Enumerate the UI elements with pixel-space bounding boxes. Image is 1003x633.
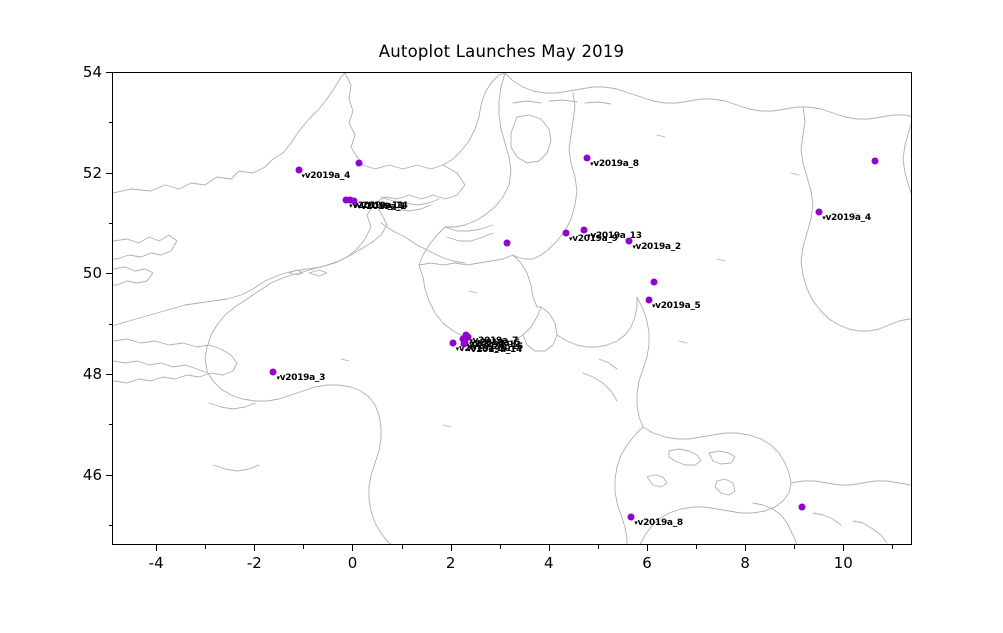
y-tick-label: 50 [83, 264, 102, 282]
data-point [356, 159, 363, 166]
map-axes: ▾v2019a_4▾v2019a_11▾v2019a_14▾v2019a_1▾v… [112, 72, 912, 545]
y-tick-minor [109, 223, 113, 224]
figure: Autoplot Launches May 2019 [0, 0, 1003, 633]
data-point-label: ▾v2019a_1 [357, 202, 406, 212]
data-point [871, 158, 878, 165]
y-tick-minor [109, 122, 113, 123]
y-tick [106, 273, 112, 274]
y-tick-label: 46 [83, 466, 102, 484]
y-tick-label: 48 [83, 365, 102, 383]
data-point [798, 503, 805, 510]
data-point-label: ▾v2019a_4 [822, 213, 871, 223]
y-tick-minor [109, 424, 113, 425]
x-tick-label: 2 [446, 554, 456, 572]
y-tick [106, 72, 112, 73]
x-tick-minor [696, 545, 697, 549]
chart-title: Autoplot Launches May 2019 [0, 42, 1003, 61]
data-point-label: ▾v2019a_8 [634, 518, 683, 528]
x-tick [745, 545, 746, 551]
x-tick-label: 6 [642, 554, 652, 572]
y-tick-minor [109, 324, 113, 325]
data-point [650, 278, 657, 285]
y-tick-minor [109, 525, 113, 526]
y-tick [106, 475, 112, 476]
x-tick-label: 4 [544, 554, 554, 572]
x-tick-minor [598, 545, 599, 549]
data-point-label: ▾v2019a_8 [590, 159, 639, 169]
x-tick-label: -2 [247, 554, 262, 572]
data-point-label: ▾v2019a_4 [302, 171, 351, 181]
data-point-label: ▾v2019a_3 [276, 373, 325, 383]
x-tick-minor [892, 545, 893, 549]
x-tick-minor [303, 545, 304, 549]
y-tick [106, 173, 112, 174]
data-point-label: ▾v2019a_14 [467, 345, 522, 355]
data-point-label: ▾v2019a_5 [652, 301, 701, 311]
x-tick-label: 8 [740, 554, 750, 572]
x-tick-label: 0 [348, 554, 358, 572]
x-tick [549, 545, 550, 551]
x-tick-minor [402, 545, 403, 549]
data-point-label: ▾v2019a_13 [587, 231, 642, 241]
y-tick [106, 374, 112, 375]
x-tick [843, 545, 844, 551]
x-tick-label: 10 [834, 554, 853, 572]
y-tick-label: 52 [83, 164, 102, 182]
x-tick-minor [794, 545, 795, 549]
x-tick-minor [500, 545, 501, 549]
y-tick-label: 54 [83, 63, 102, 81]
basemap-coastlines [113, 73, 912, 545]
x-tick [352, 545, 353, 551]
x-tick-label: -4 [149, 554, 164, 572]
x-tick [254, 545, 255, 551]
data-point-label: ▾v2019a_2 [632, 242, 681, 252]
x-tick-minor [205, 545, 206, 549]
x-tick [647, 545, 648, 551]
x-tick [156, 545, 157, 551]
x-tick [451, 545, 452, 551]
data-point [504, 239, 511, 246]
